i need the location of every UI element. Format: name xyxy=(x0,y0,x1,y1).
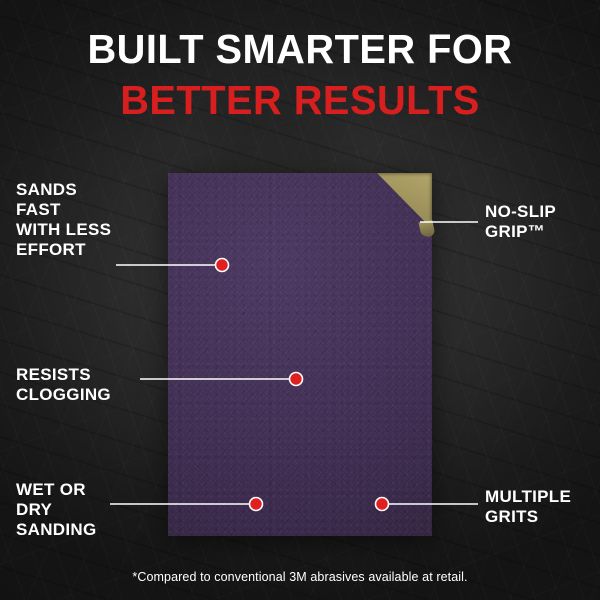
headline: BUILT SMARTER FOR BETTER RESULTS xyxy=(0,26,600,124)
callout-sands-fast: SANDS FAST WITH LESS EFFORT xyxy=(16,180,111,260)
callout-wet-or-dry: WET or DRY SANDING xyxy=(16,480,97,540)
footnote-disclaimer: *Compared to conventional 3M abrasives a… xyxy=(0,570,600,584)
callout-multiple-grits: MULTIPLE GRITS xyxy=(485,487,571,527)
product-feature-image: BUILT SMARTER FOR BETTER RESULTS SANDS F… xyxy=(0,0,600,600)
sandpaper-sheet xyxy=(168,173,432,536)
callout-resists-clogging: RESISTS CLOGGING xyxy=(16,365,111,405)
headline-line-2: BETTER RESULTS xyxy=(9,76,591,124)
sheet-abrasive-face xyxy=(168,173,432,536)
headline-line-1: BUILT SMARTER FOR xyxy=(9,26,591,72)
callout-no-slip-grip: NO-SLIP GRIP™ xyxy=(485,202,556,242)
abrasive-grain-texture xyxy=(168,173,432,536)
